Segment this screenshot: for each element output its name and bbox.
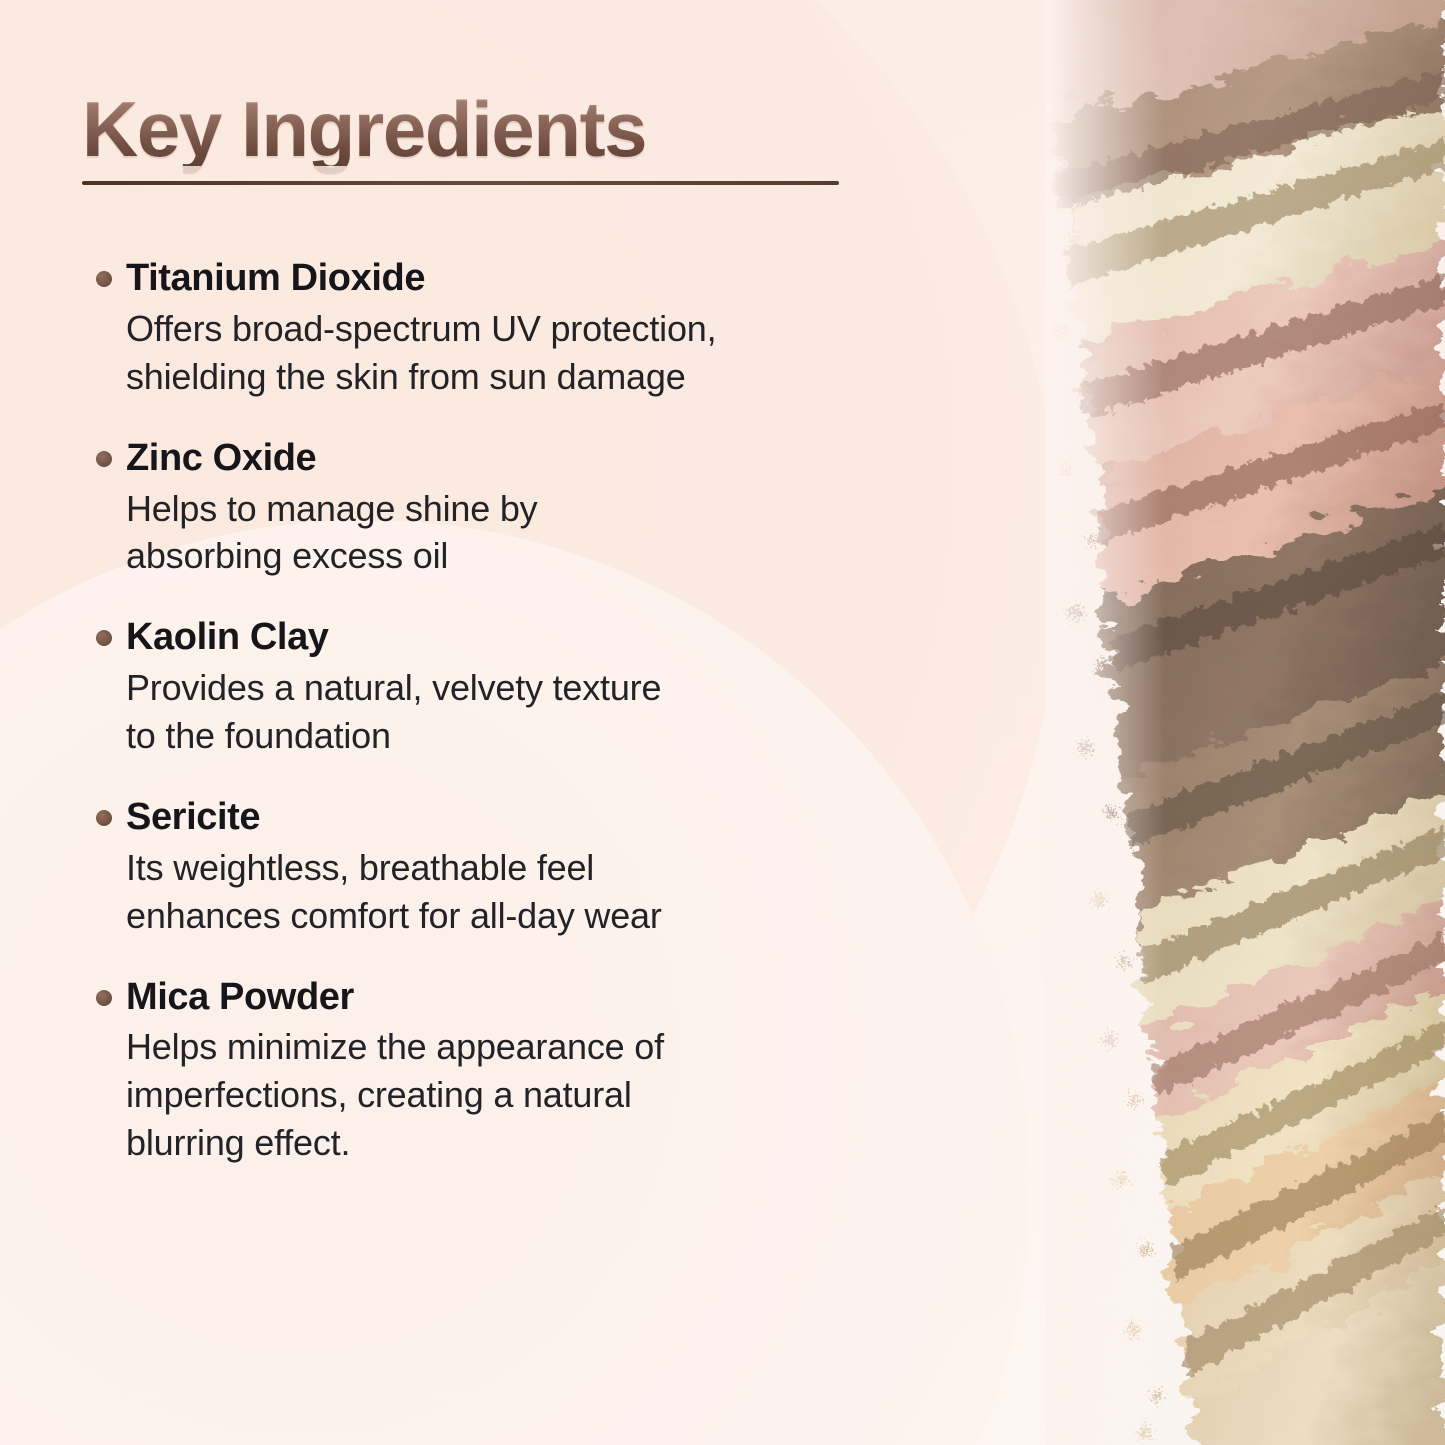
bullet-dot-icon [96, 451, 112, 467]
list-item: Kaolin Clay Provides a natural, velvety … [82, 614, 962, 760]
bullet-dot-icon [96, 810, 112, 826]
ingredient-description: Its weightless, breathable feel enhances… [126, 844, 962, 940]
ingredient-name: Sericite [126, 794, 962, 842]
content-column: Key Ingredients Titanium Dioxide Offers … [0, 0, 1000, 1445]
page-title: Key Ingredients [82, 92, 872, 166]
ingredient-name: Mica Powder [126, 974, 962, 1022]
ingredient-description: Helps to manage shine by absorbing exces… [126, 485, 962, 581]
list-item: Mica Powder Helps minimize the appearanc… [82, 974, 962, 1168]
key-ingredients-infographic: Key Ingredients Titanium Dioxide Offers … [0, 0, 1445, 1445]
page-title-underline [82, 181, 839, 185]
list-item: Sericite Its weightless, breathable feel… [82, 794, 962, 940]
powder-swatch-photo [1045, 0, 1445, 1445]
ingredient-name: Kaolin Clay [126, 614, 962, 662]
ingredient-description: Offers broad-spectrum UV protection, shi… [126, 305, 962, 401]
bullet-dot-icon [96, 990, 112, 1006]
ingredient-name: Titanium Dioxide [126, 255, 962, 303]
bullet-dot-icon [96, 630, 112, 646]
ingredient-name: Zinc Oxide [126, 435, 962, 483]
list-item: Zinc Oxide Helps to manage shine by abso… [82, 435, 962, 581]
ingredient-description: Helps minimize the appearance of imperfe… [126, 1023, 962, 1167]
ingredient-list: Titanium Dioxide Offers broad-spectrum U… [82, 255, 962, 1167]
page-title-wrap: Key Ingredients [82, 92, 872, 166]
ingredient-description: Provides a natural, velvety texture to t… [126, 664, 962, 760]
list-item: Titanium Dioxide Offers broad-spectrum U… [82, 255, 962, 401]
bullet-dot-icon [96, 271, 112, 287]
